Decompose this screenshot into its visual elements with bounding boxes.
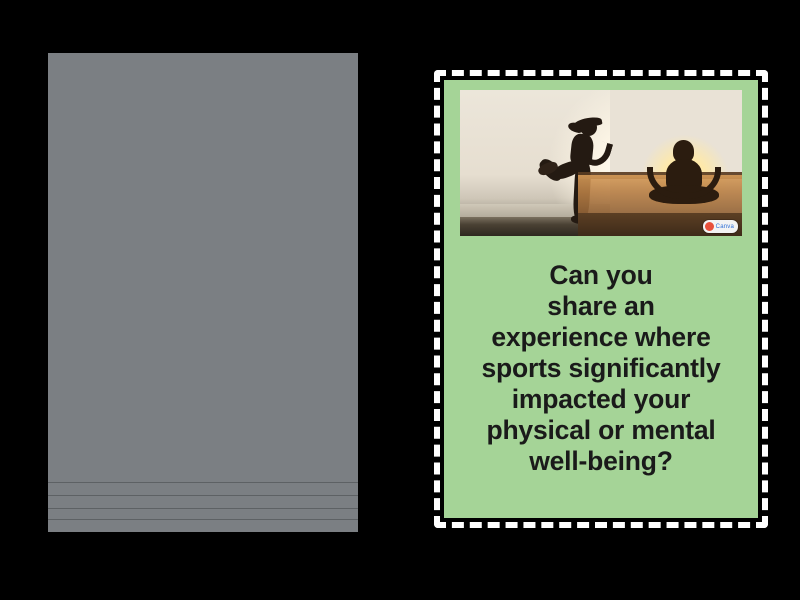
placeholder-row (48, 495, 358, 509)
photo-meditation-scene (575, 90, 742, 236)
placeholder-row-stack (48, 482, 358, 532)
placeholder-row (48, 519, 358, 533)
card-question-text: Can you share an experience where sports… (454, 260, 748, 477)
placeholder-row (48, 482, 358, 496)
card-photo: Canva (460, 90, 742, 236)
question-card[interactable]: Canva Can you share an experience where … (444, 80, 758, 518)
meditator-silhouette-icon (646, 140, 722, 202)
left-placeholder-panel (48, 53, 358, 532)
watermark-label: Canva (716, 224, 734, 230)
canva-watermark-badge: Canva (703, 220, 738, 233)
watermark-dot-icon (705, 222, 714, 231)
